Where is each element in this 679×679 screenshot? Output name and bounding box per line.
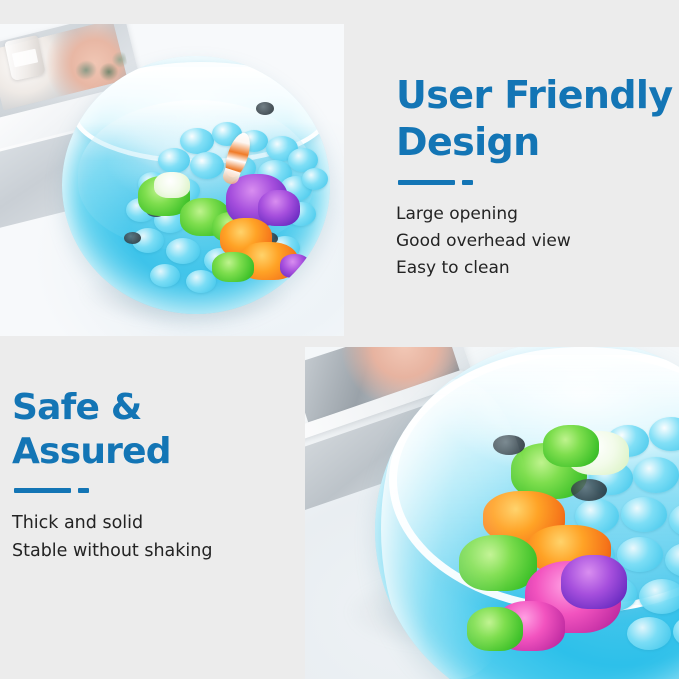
aquarium-plant-purple: [258, 190, 300, 226]
pebble: [190, 152, 224, 179]
aquarium-plant-green: [543, 425, 599, 467]
pebble: [627, 617, 671, 650]
aquarium-plant-white: [154, 172, 190, 198]
product-feature-banner: User Friendly Design Large opening Good …: [0, 0, 679, 679]
dark-stone: [256, 102, 274, 115]
list-item: Easy to clean: [396, 255, 674, 282]
aquarium-plant-green: [212, 252, 254, 282]
feature-block-user-friendly: User Friendly Design Large opening Good …: [396, 72, 674, 282]
bullet-list-safe-assured: Thick and solid Stable without shaking: [12, 509, 308, 565]
list-item: Thick and solid: [12, 509, 308, 537]
divider-long-dash: [398, 180, 455, 185]
list-item: Large opening: [396, 201, 674, 228]
product-photo-overhead: [0, 24, 344, 336]
pebble: [621, 497, 667, 532]
headline-safe-and-assured: Safe & Assured: [12, 386, 308, 474]
pebble: [639, 579, 679, 614]
pebble: [633, 457, 679, 493]
divider-short-dash: [78, 488, 89, 493]
aquarium-plant-purple: [280, 254, 310, 278]
pebble: [158, 148, 190, 173]
aquarium-plant-purple: [561, 555, 627, 609]
pebble: [673, 615, 679, 648]
pebble: [186, 270, 216, 293]
pebble: [180, 128, 214, 154]
fish-bowl-overhead: [62, 56, 330, 314]
pebble: [150, 264, 180, 287]
divider-user-friendly: [398, 180, 674, 185]
pebble: [166, 238, 200, 264]
product-photo-closeup: [305, 347, 679, 679]
divider-safe-assured: [14, 488, 308, 493]
pebble: [302, 168, 328, 190]
fish-bowl-closeup: [375, 347, 679, 679]
bullet-list-user-friendly: Large opening Good overhead view Easy to…: [396, 201, 674, 282]
divider-short-dash: [462, 180, 473, 185]
list-item: Good overhead view: [396, 228, 674, 255]
dark-stone: [124, 232, 141, 244]
headline-user-friendly-design: User Friendly Design: [396, 72, 674, 166]
feature-block-safe-assured: Safe & Assured Thick and solid Stable wi…: [12, 386, 308, 565]
divider-long-dash: [14, 488, 71, 493]
list-item: Stable without shaking: [12, 537, 308, 565]
pebble: [617, 537, 663, 572]
glass-highlight: [381, 379, 531, 679]
dark-stone: [571, 479, 607, 501]
